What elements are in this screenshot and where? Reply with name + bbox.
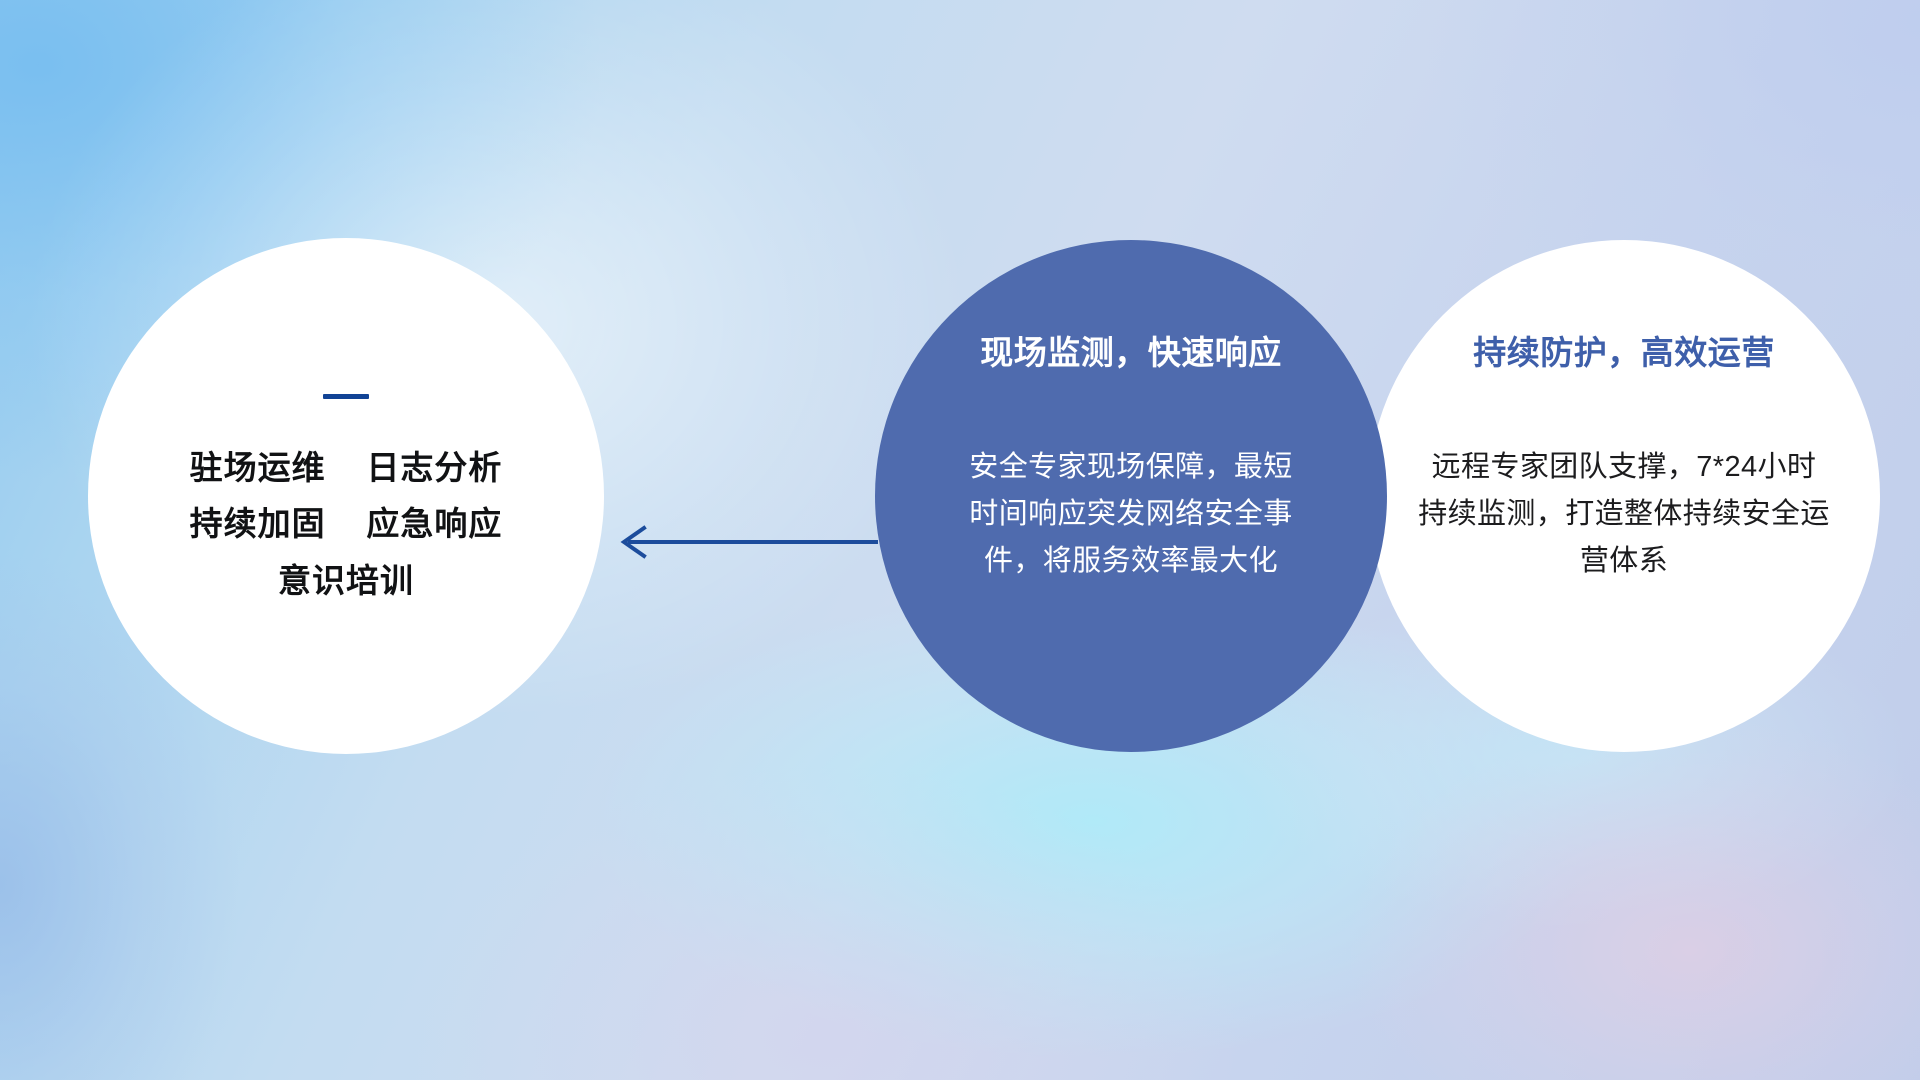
arrow-icon <box>610 520 880 564</box>
onsite-monitoring-circle[interactable]: 现场监测，快速响应 安全专家现场保障，最短时间响应突发网络安全事件，将服务效率最… <box>875 240 1387 752</box>
left-pointing-arrow <box>610 520 880 564</box>
onsite-monitoring-body: 安全专家现场保障，最短时间响应突发网络安全事件，将服务效率最大化 <box>963 444 1299 585</box>
continuous-protection-body: 远程专家团队支撑，7*24小时持续监测，打造整体持续安全运营体系 <box>1418 444 1830 585</box>
capability-line-1: 驻场运维 日志分析 <box>190 451 503 486</box>
slide-canvas: 驻场运维 日志分析 持续加固 应急响应 意识培训 持续防护，高效运营 远程专家团… <box>0 0 1920 1080</box>
capability-line-3: 意识培训 <box>278 564 414 599</box>
continuous-protection-circle[interactable]: 持续防护，高效运营 远程专家团队支撑，7*24小时持续监测，打造整体持续安全运营… <box>1368 240 1880 752</box>
capability-list: 驻场运维 日志分析 持续加固 应急响应 意识培训 <box>190 451 503 599</box>
onsite-monitoring-title: 现场监测，快速响应 <box>980 326 1282 374</box>
capabilities-circle[interactable]: 驻场运维 日志分析 持续加固 应急响应 意识培训 <box>88 238 604 754</box>
continuous-protection-title: 持续防护，高效运营 <box>1473 326 1775 374</box>
accent-dash-icon <box>323 394 369 399</box>
capability-line-2: 持续加固 应急响应 <box>190 507 503 542</box>
